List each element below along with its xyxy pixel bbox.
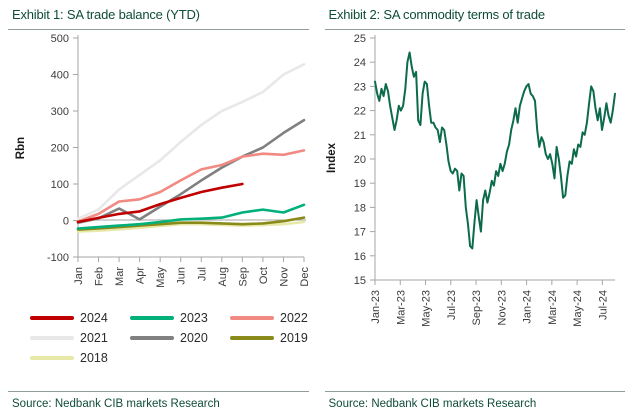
exhibit-1-x-tick-label: Nov	[278, 267, 290, 287]
legend-label-2024: 2024	[80, 311, 108, 325]
exhibit-1-source: Source: Nedbank CIB markets Research	[6, 392, 311, 410]
exhibit-1-y-axis: -1000100200300400500	[47, 33, 78, 264]
exhibit-2-title: Exhibit 2: SA commodity terms of trade	[323, 0, 628, 29]
chart-page: Exhibit 1: SA trade balance (YTD) -10001…	[0, 0, 633, 418]
legend-label-2021: 2021	[80, 331, 108, 345]
legend-item-2021: 2021	[12, 328, 112, 348]
exhibit-1-y-tick-label: 200	[51, 143, 69, 155]
exhibit-2-series-group	[375, 53, 615, 249]
exhibit-1-x-tick-label: Jun	[176, 267, 188, 285]
exhibit-2-x-tick-label: May-23	[420, 290, 432, 327]
exhibit-1-plot: -1000100200300400500 JanFebMarAprMayJunJ…	[6, 30, 311, 300]
exhibit-2-footer: Source: Nedbank CIB markets Research	[323, 391, 628, 410]
legend-item-2024: 2024	[12, 308, 112, 328]
exhibit-2-y-tick-label: 15	[353, 275, 365, 287]
exhibit-1-x-tick-label: Jul	[196, 267, 208, 281]
exhibit-1-y-tick-label: 0	[63, 216, 69, 228]
exhibit-2-y-tick-label: 23	[353, 81, 365, 93]
legend-swatch-2018	[30, 356, 74, 360]
legend-label-2020: 2020	[180, 331, 208, 345]
exhibit-2-panel: Exhibit 2: SA commodity terms of trade 1…	[317, 0, 633, 418]
exhibit-1-x-tick-label: Feb	[94, 267, 106, 286]
legend-item-2018: 2018	[12, 348, 112, 368]
exhibit-2-y-tick-label: 21	[353, 130, 365, 142]
legend-item-2023: 2023	[112, 308, 212, 328]
exhibit-1-y-tick-label: 400	[51, 70, 69, 82]
exhibit-2-y-axis-title: Index	[326, 142, 338, 173]
exhibit-2-x-tick-label: Jan-24	[521, 290, 533, 324]
exhibit-2-plot: 1516171819202122232425 Jan-23Mar-23May-2…	[323, 30, 628, 360]
exhibit-1-x-tick-label: Apr	[135, 267, 147, 284]
exhibit-1-y-tick-label: 100	[51, 179, 69, 191]
legend-label-2022: 2022	[280, 311, 308, 325]
exhibit-2-x-tick-label: Jul-24	[597, 290, 609, 320]
exhibit-2-x-tick-label: Mar-23	[395, 290, 407, 325]
exhibit-1-svg: -1000100200300400500 JanFebMarAprMayJunJ…	[6, 30, 311, 300]
exhibit-1-x-tick-label: Jan	[73, 267, 85, 285]
legend-label-2019: 2019	[280, 331, 308, 345]
exhibit-2-y-tick-label: 24	[353, 57, 365, 69]
exhibit-2-x-tick-label: Sep-23	[471, 290, 483, 325]
legend-swatch-2023	[130, 316, 174, 320]
legend-swatch-2019	[230, 336, 274, 340]
legend-label-2018: 2018	[80, 351, 108, 365]
legend-item-2019: 2019	[212, 328, 312, 348]
exhibit-2-x-tick-label: Nov-23	[496, 290, 508, 325]
exhibit-2-x-tick-label: Jan-23	[370, 290, 382, 324]
exhibit-1-y-tick-label: 500	[51, 33, 69, 45]
legend-swatch-2022	[230, 316, 274, 320]
exhibit-1-y-tick-label: -100	[47, 252, 69, 264]
legend-swatch-2024	[30, 316, 74, 320]
exhibit-1-panel: Exhibit 1: SA trade balance (YTD) -10001…	[0, 0, 317, 418]
exhibit-2-y-tick-label: 18	[353, 202, 365, 214]
exhibit-1-title: Exhibit 1: SA trade balance (YTD)	[6, 0, 311, 29]
exhibit-2-svg: 1516171819202122232425 Jan-23Mar-23May-2…	[323, 30, 623, 360]
exhibit-2-x-tick-label: Jul-23	[445, 290, 457, 320]
exhibit-1-x-tick-label: Sep	[237, 267, 249, 287]
exhibit-1-x-axis: JanFebMarAprMayJunJulAugSepOctNovDec	[73, 257, 311, 288]
exhibit-2-x-tick-label: Mar-24	[546, 290, 558, 325]
legend-item-2022: 2022	[212, 308, 312, 328]
exhibit-2-y-tick-label: 16	[353, 251, 365, 263]
exhibit-2-y-axis: 1516171819202122232425	[353, 33, 374, 287]
exhibit-1-x-tick-label: Oct	[258, 267, 270, 284]
exhibit-1-x-tick-label: Dec	[299, 267, 311, 287]
legend-swatch-2020	[130, 336, 174, 340]
exhibit-2-x-tick-label: May-24	[572, 290, 584, 327]
exhibit-1-x-tick-label: Mar	[114, 267, 126, 286]
exhibit-2-y-tick-label: 25	[353, 33, 365, 45]
legend-swatch-2021	[30, 336, 74, 340]
exhibit-2-x-axis: Jan-23Mar-23May-23Jul-23Sep-23Nov-23Jan-…	[370, 280, 609, 327]
exhibit-1-line-2024	[78, 184, 242, 222]
exhibit-2-source: Source: Nedbank CIB markets Research	[323, 392, 628, 410]
exhibit-2-y-tick-label: 19	[353, 178, 365, 190]
exhibit-1-x-tick-label: May	[155, 267, 167, 288]
exhibit-1-y-tick-label: 300	[51, 106, 69, 118]
exhibit-2-y-tick-label: 17	[353, 227, 365, 239]
exhibit-1-series-group	[78, 64, 304, 231]
exhibit-2-y-tick-label: 20	[353, 154, 365, 166]
exhibit-1-legend: 2024202320222021202020192018	[12, 300, 312, 368]
legend-item-2020: 2020	[112, 328, 212, 348]
exhibit-1-x-tick-label: Aug	[217, 267, 229, 287]
exhibit-1-footer: Source: Nedbank CIB markets Research	[6, 391, 311, 410]
exhibit-2-line	[375, 53, 615, 249]
legend-label-2023: 2023	[180, 311, 208, 325]
exhibit-1-y-axis-title: Rbn	[15, 137, 27, 159]
exhibit-2-y-tick-label: 22	[353, 106, 365, 118]
